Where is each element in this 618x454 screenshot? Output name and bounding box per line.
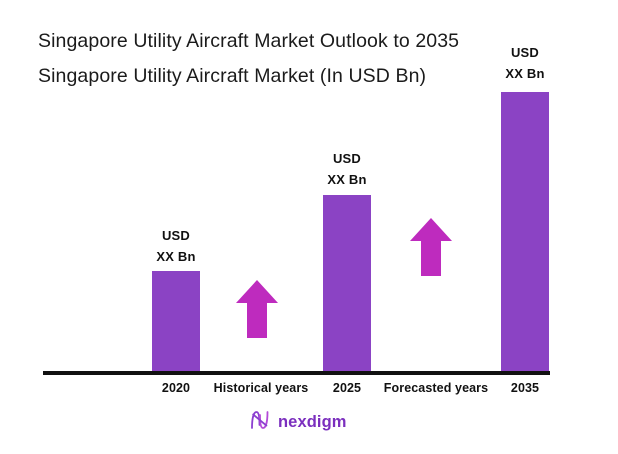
bar-label-2025: USD XX Bn xyxy=(292,148,402,190)
bar-2035 xyxy=(501,92,549,371)
bar-2020 xyxy=(152,271,200,371)
bar-label-2035-line1: USD xyxy=(470,42,580,63)
bar-label-2025-line2: XX Bn xyxy=(292,169,402,190)
growth-arrow-historical-icon xyxy=(236,280,278,338)
chart-plot-area: USD XX Bn USD XX Bn USD XX Bn 2020 Histo… xyxy=(0,0,618,454)
growth-arrow-forecast-icon xyxy=(410,218,452,276)
bar-label-2025-line1: USD xyxy=(292,148,402,169)
nexdigm-n-mark-icon xyxy=(249,409,271,436)
bar-label-2020: USD XX Bn xyxy=(121,225,231,267)
bar-label-2035-line2: XX Bn xyxy=(470,63,580,84)
x-axis-line xyxy=(43,371,550,375)
brand-logo: nexdigm xyxy=(249,409,347,436)
bar-label-2020-line2: XX Bn xyxy=(121,246,231,267)
bar-label-2035: USD XX Bn xyxy=(470,42,580,84)
slide-canvas: Singapore Utility Aircraft Market Outloo… xyxy=(0,0,618,454)
brand-logo-text: nexdigm xyxy=(278,413,347,432)
bar-2025 xyxy=(323,195,371,371)
bar-label-2020-line1: USD xyxy=(121,225,231,246)
x-axis-tick-2035: 2035 xyxy=(481,381,569,395)
